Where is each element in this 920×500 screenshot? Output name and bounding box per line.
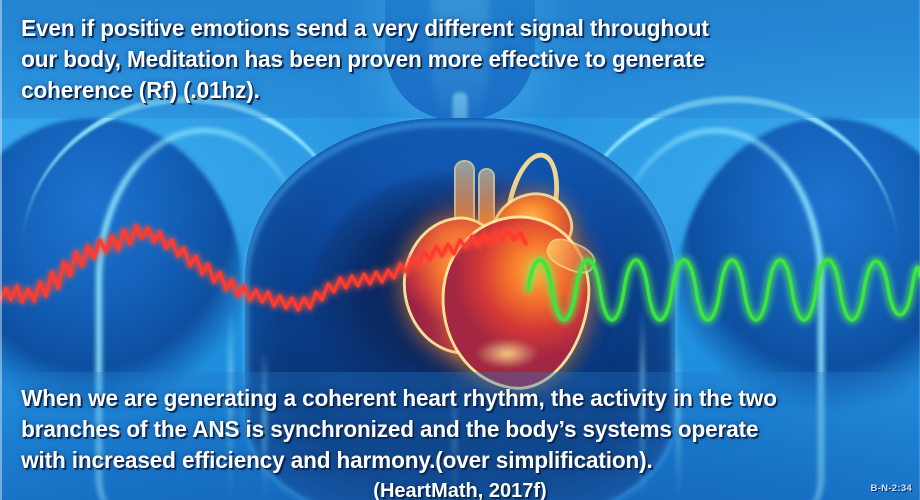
bottom-text-line-3: with increased efficiency and harmony.(o…	[0, 445, 883, 476]
top-text-line-2: our body, Meditation has been proven mor…	[0, 44, 883, 75]
source-citation: (HeartMath, 2017f)	[0, 480, 920, 500]
heart-illustration	[398, 158, 608, 388]
top-text-line-3: coherence (Rf) (.01hz).	[0, 75, 883, 106]
slide-corner-tag: B-N-2:34	[871, 483, 912, 494]
slide-canvas: Even if positive emotions send a very di…	[0, 0, 920, 500]
bottom-text-band: When we are generating a coherent heart …	[0, 372, 920, 500]
bottom-text-line-2: branches of the ANS is synchronized and …	[0, 414, 883, 445]
top-text-line-1: Even if positive emotions send a very di…	[0, 0, 883, 44]
heart-apex-highlight	[464, 340, 550, 374]
bottom-text-line-1: When we are generating a coherent heart …	[0, 372, 883, 414]
top-text-band: Even if positive emotions send a very di…	[0, 0, 920, 118]
